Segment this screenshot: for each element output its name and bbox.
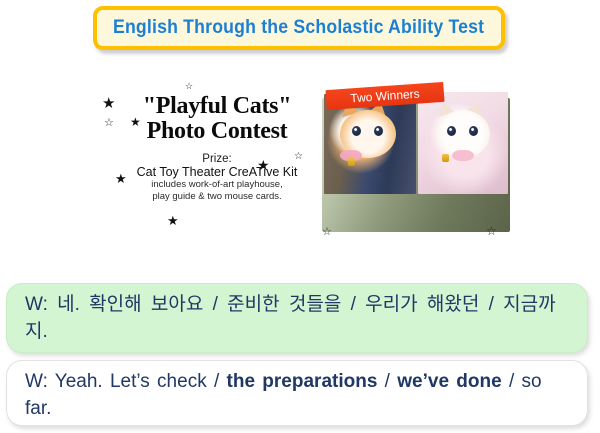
- lesson-title-banner: English Through the Scholastic Ability T…: [93, 6, 505, 50]
- winners-photo-cluster: Two Winners: [322, 78, 512, 246]
- subtitle-english-bold-1: the preparations: [227, 371, 378, 392]
- star-icon: ☆: [294, 152, 303, 162]
- subtitle-english-bold-2: we’ve done: [397, 371, 501, 392]
- star-icon: ★: [115, 172, 127, 185]
- subtitle-english-separator: /: [377, 371, 397, 392]
- star-icon: ★: [257, 158, 270, 172]
- star-icon: ★: [130, 116, 141, 128]
- kitten-bell: [348, 158, 355, 166]
- star-icon: ☆: [322, 227, 332, 238]
- star-icon: ★: [102, 96, 115, 111]
- contest-poster-image: "Playful Cats" Photo Contest Prize: Cat …: [90, 72, 514, 248]
- subtitle-english-text: W: Yeah. Let’s check / the preparations …: [25, 369, 571, 423]
- kitten-eye-right: [469, 126, 478, 136]
- star-icon: ★: [167, 214, 179, 227]
- subtitle-box-english: W: Yeah. Let’s check / the preparations …: [6, 360, 588, 426]
- kitten-eye-left: [447, 126, 456, 136]
- poster-prize-note-line-1: includes work-of-art playhouse,: [98, 179, 336, 191]
- kitten-bow: [452, 150, 474, 161]
- kitten-eye-right: [374, 126, 383, 136]
- two-winners-label: Two Winners: [350, 87, 420, 106]
- star-icon: ☆: [486, 225, 497, 237]
- poster-prize-note-line-2: play guide & two mouse cards.: [98, 191, 336, 203]
- subtitle-korean-text: W: 네. 확인해 보아요 / 준비한 것들을 / 우리가 해왔던 / 지금까지…: [25, 292, 571, 346]
- star-icon: ☆: [185, 82, 193, 91]
- poster-prize-name: Cat Toy Theater CreATive Kit: [98, 165, 336, 179]
- kitten-eye-left: [352, 126, 361, 136]
- poster-text-block: "Playful Cats" Photo Contest Prize: Cat …: [98, 94, 336, 203]
- kitten-photo-right: [418, 92, 508, 194]
- star-icon: ☆: [104, 118, 114, 129]
- kitten-bell: [442, 154, 449, 162]
- subtitle-box-korean: W: 네. 확인해 보아요 / 준비한 것들을 / 우리가 해왔던 / 지금까지…: [6, 283, 588, 353]
- subtitle-english-prefix: W: Yeah. Let’s check /: [25, 371, 227, 392]
- page-title: English Through the Scholastic Ability T…: [113, 17, 484, 39]
